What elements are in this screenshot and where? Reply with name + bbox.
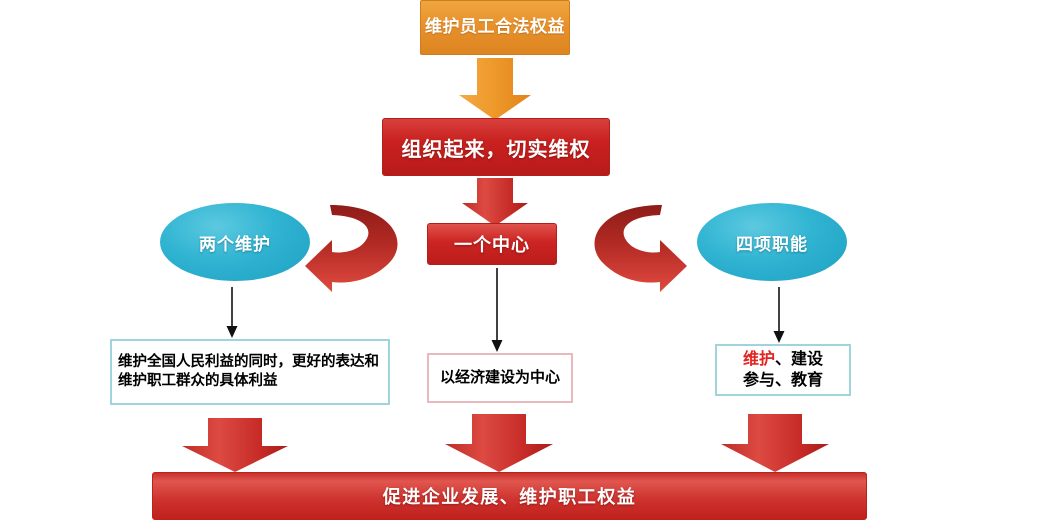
detail-box-right: 维护、建设 参与、教育 [715, 344, 851, 396]
thin-down-arrow-middle [492, 268, 503, 352]
ellipse-two-protections: 两个维护 [160, 203, 310, 281]
detail-right-line1-highlight: 维护 [743, 349, 775, 368]
detail-right-line2: 参与、教育 [743, 370, 823, 391]
detail-right-line1-rest: 、建设 [775, 349, 823, 368]
curved-arrow-right [595, 205, 688, 292]
diagram-canvas: 维护员工合法权益 组织起来，切实维权 两个维护 一个中心 四项职能 维护全国人民… [0, 0, 1050, 525]
thin-down-arrow-right [774, 287, 785, 343]
red-down-arrow [462, 178, 528, 226]
ellipse-four-functions: 四项职能 [697, 203, 847, 281]
red-block-arrow-left [182, 418, 288, 472]
center-box-one-center: 一个中心 [427, 223, 557, 265]
thin-down-arrow-left [227, 287, 238, 338]
curved-arrow-left [305, 205, 398, 292]
title-box: 维护员工合法权益 [420, 0, 570, 55]
orange-down-arrow [459, 58, 531, 120]
red-block-arrow-right [721, 414, 829, 472]
detail-box-middle: 以经济建设为中心 [427, 353, 573, 403]
detail-box-left: 维护全国人民利益的同时，更好的表达和维护职工群众的具体利益 [110, 339, 390, 405]
red-block-arrow-middle [445, 414, 553, 472]
bottom-bar: 促进企业发展、维护职工权益 [152, 472, 867, 520]
banner-box: 组织起来，切实维权 [382, 118, 610, 176]
